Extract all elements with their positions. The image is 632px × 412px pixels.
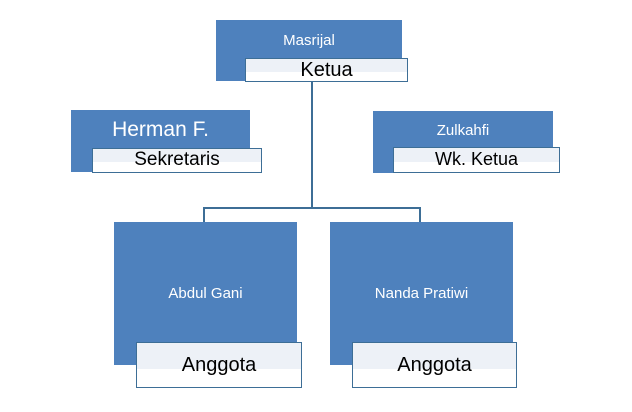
node-role-sekretaris: Sekretaris [92, 148, 262, 173]
node-role-text: Ketua [300, 59, 352, 81]
org-chart: Masrijal Ketua Herman F. Sekretaris Zulk… [0, 0, 632, 412]
node-role-text: Anggota [182, 354, 257, 376]
node-name-text: Masrijal [283, 32, 335, 49]
node-name-text: Nanda Pratiwi [375, 285, 468, 302]
node-role-wakil-ketua: Wk. Ketua [393, 147, 560, 173]
node-role-text: Sekretaris [134, 150, 220, 171]
node-role-text: Anggota [397, 354, 472, 376]
node-name-text: Herman F. [112, 118, 209, 142]
node-role-text: Wk. Ketua [435, 150, 518, 170]
node-name-text: Zulkahfi [437, 122, 490, 139]
node-role-ketua: Ketua [245, 58, 408, 82]
node-role-anggota-1: Anggota [136, 342, 302, 388]
node-name-text: Abdul Gani [168, 285, 242, 302]
node-role-anggota-2: Anggota [352, 342, 517, 388]
